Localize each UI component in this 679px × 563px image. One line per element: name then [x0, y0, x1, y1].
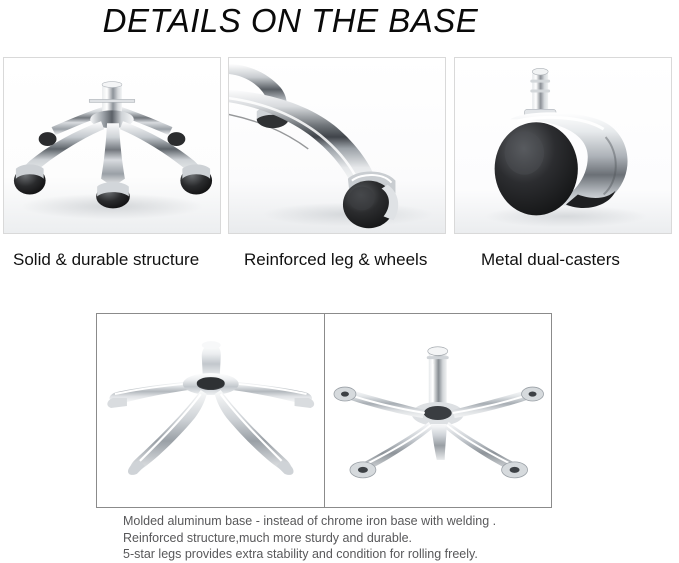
image-panel-aluminum-base-side[interactable] [97, 314, 325, 507]
caption-metal-casters: Metal dual-casters [481, 248, 620, 272]
top-image-row [0, 57, 679, 234]
metal-dual-caster-photo [455, 58, 671, 233]
aluminum-base-top-view-photo [325, 314, 552, 507]
caption-solid-structure: Solid & durable structure [13, 248, 199, 272]
image-panel-aluminum-base-top[interactable] [325, 314, 552, 507]
description-block: Molded aluminum base - instead of chrome… [123, 513, 583, 563]
aluminum-base-side-view-photo [97, 314, 324, 507]
product-detail-page: DETAILS ON THE BASE [0, 0, 679, 563]
image-panel-reinforced-leg[interactable] [228, 57, 446, 234]
chrome-five-star-base-photo [4, 58, 220, 233]
page-title: DETAILS ON THE BASE [0, 1, 679, 41]
description-line-1: Molded aluminum base - instead of chrome… [123, 513, 583, 530]
image-panel-metal-caster[interactable] [454, 57, 672, 234]
description-line-3: 5-star legs provides extra stability and… [123, 546, 583, 563]
bottom-image-row [96, 313, 552, 508]
description-line-2: Reinforced structure,much more sturdy an… [123, 530, 583, 547]
caption-reinforced-leg: Reinforced leg & wheels [244, 248, 427, 272]
image-panel-solid-structure[interactable] [3, 57, 221, 234]
reinforced-leg-wheel-photo [229, 58, 445, 233]
caption-row: Solid & durable structure Reinforced leg… [0, 248, 679, 274]
